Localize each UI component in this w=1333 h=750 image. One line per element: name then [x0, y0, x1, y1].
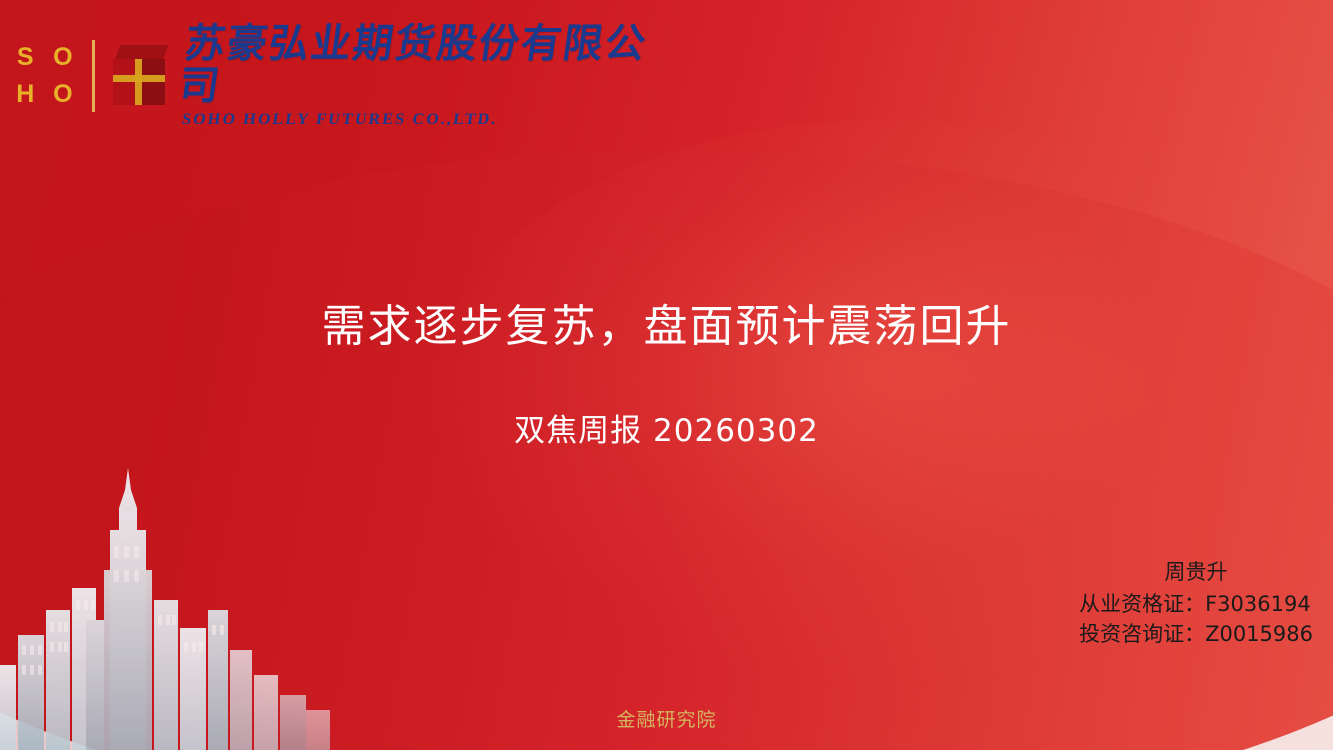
company-name-cn: 苏豪弘业期货股份有限公司 [176, 23, 666, 107]
soho-letter-h: H [8, 78, 43, 113]
consulting-value: Z0015986 [1205, 622, 1313, 646]
soho-letter-o1: O [46, 40, 81, 75]
soho-mark-icon: S O H O [8, 40, 80, 112]
cube-logo-icon [111, 43, 168, 109]
footer-department: 金融研究院 [0, 705, 1333, 732]
soho-letter-s: S [8, 40, 43, 75]
slide-canvas: S O H O 苏豪弘业期货股份有限公司 SOHO HOLLY FUTURES … [0, 0, 1333, 750]
author-consulting: 投资咨询证：Z0015986 [1079, 620, 1313, 650]
company-logo: S O H O 苏豪弘业期货股份有限公司 SOHO HOLLY FUTURES … [0, 26, 660, 126]
page-subtitle: 双焦周报 20260302 [0, 405, 1333, 450]
company-name-en: SOHO HOLLY FUTURES CO.,LTD. [181, 111, 662, 129]
qualification-value: F3036194 [1205, 592, 1311, 616]
page-title: 需求逐步复苏，盘面预计震荡回升 [0, 290, 1333, 354]
soho-letter-o2: O [46, 78, 81, 113]
author-info: 周贵升 从业资格证：F3036194 投资咨询证：Z0015986 [1079, 558, 1313, 649]
qualification-label: 从业资格证： [1079, 592, 1205, 616]
author-name: 周贵升 [1079, 558, 1313, 588]
logo-text-block: 苏豪弘业期货股份有限公司 SOHO HOLLY FUTURES CO.,LTD. [182, 23, 660, 129]
logo-divider [92, 40, 95, 112]
author-qualification: 从业资格证：F3036194 [1079, 590, 1313, 620]
consulting-label: 投资咨询证： [1079, 622, 1205, 646]
